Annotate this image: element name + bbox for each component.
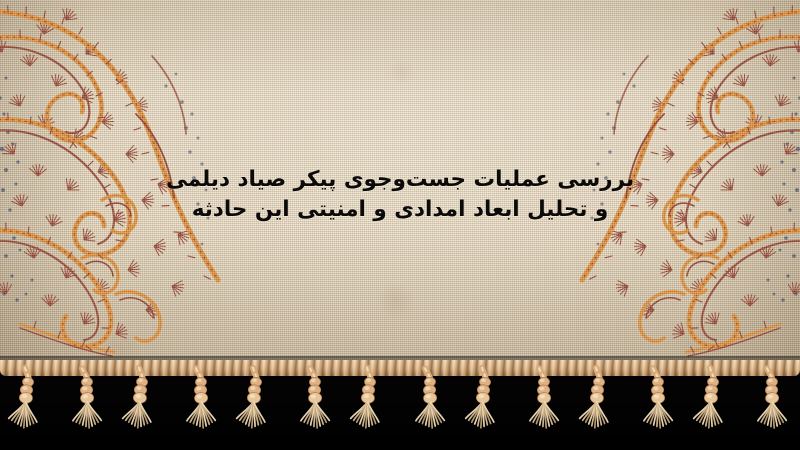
tassel bbox=[1, 368, 57, 450]
tassel-icon bbox=[401, 368, 457, 450]
tassel bbox=[458, 368, 514, 450]
caption-line-2: و تحلیل ابعاد امدادی و امنیتی این حادثه bbox=[0, 196, 800, 224]
black-backdrop bbox=[0, 360, 800, 450]
tassel-icon bbox=[229, 368, 285, 450]
tassel bbox=[572, 368, 628, 450]
tassel-icon bbox=[115, 368, 171, 450]
tassel-icon bbox=[286, 368, 342, 450]
tassel bbox=[343, 368, 399, 450]
tassel-icon bbox=[515, 368, 571, 450]
tassel bbox=[686, 368, 742, 450]
tassel bbox=[115, 368, 171, 450]
tassel-icon bbox=[172, 368, 228, 450]
tassel bbox=[172, 368, 228, 450]
tassel-icon bbox=[458, 368, 514, 450]
tassel-icon bbox=[1, 368, 57, 450]
tassel bbox=[229, 368, 285, 450]
tassel-icon bbox=[629, 368, 685, 450]
textile-banner: بررسی عملیات جست‌وجوی پیکر صیاد دیلمی و … bbox=[0, 0, 800, 450]
caption-line-1: بررسی عملیات جست‌وجوی پیکر صیاد دیلمی bbox=[0, 166, 800, 194]
tassel bbox=[401, 368, 457, 450]
tassel bbox=[743, 368, 799, 450]
tassel-icon bbox=[343, 368, 399, 450]
banner-caption: بررسی عملیات جست‌وجوی پیکر صیاد دیلمی و … bbox=[0, 166, 800, 224]
tassel bbox=[629, 368, 685, 450]
tassel-icon bbox=[686, 368, 742, 450]
tassel-icon bbox=[58, 368, 114, 450]
tassel-fringe bbox=[0, 368, 800, 450]
tassel-icon bbox=[572, 368, 628, 450]
tassel bbox=[58, 368, 114, 450]
tassel bbox=[515, 368, 571, 450]
tassel-icon bbox=[743, 368, 799, 450]
tassel bbox=[286, 368, 342, 450]
